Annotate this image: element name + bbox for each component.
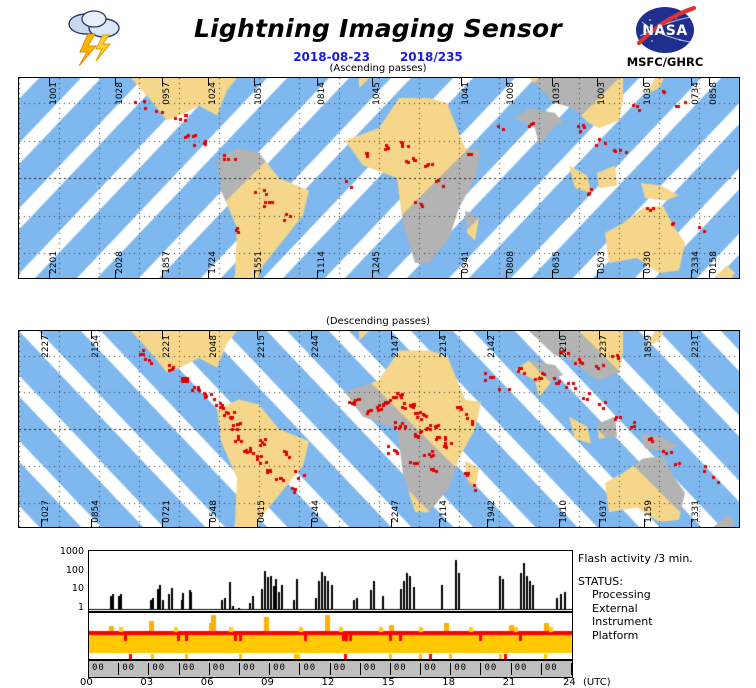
- orbit-time-label: 1028: [116, 82, 125, 105]
- orbit-cell[interactable]: 00: [89, 663, 119, 675]
- orbit-cell[interactable]: 00: [391, 663, 421, 675]
- orbit-cell[interactable]: 00: [331, 663, 361, 675]
- status-bars[interactable]: [88, 612, 573, 660]
- orbit-cell[interactable]: 00: [542, 663, 572, 675]
- orbit-time-label: 2210: [560, 335, 569, 358]
- svg-text:NASA: NASA: [642, 23, 687, 39]
- orbit-cell-label: 00: [334, 663, 347, 673]
- orbit-cell-label: 00: [454, 663, 467, 673]
- legend-flash-activity: Flash activity /3 min.: [578, 552, 756, 566]
- chart-legend: Flash activity /3 min. STATUS: Processin…: [578, 552, 756, 642]
- orbit-time-label: 0415: [258, 500, 267, 523]
- orbit-time-label: 1030: [644, 82, 653, 105]
- descending-map-canvas: [19, 331, 739, 527]
- orbit-time-label: 2154: [92, 335, 101, 358]
- orbit-cell-label: 00: [152, 663, 165, 673]
- orbit-time-label: 0854: [92, 500, 101, 523]
- orbit-time-label: 1001: [50, 82, 59, 105]
- orbit-cell-label: 00: [122, 663, 135, 673]
- legend-spacer: [578, 566, 756, 575]
- utc-suffix-label: (UTC): [583, 677, 611, 688]
- nasa-center-label: MSFC/GHRC: [620, 55, 710, 69]
- orbit-time-label: 1114: [318, 251, 327, 274]
- orbit-time-label: 1859: [645, 335, 654, 358]
- timeseries-panel: 1000100101 00000000000000000000000000000…: [0, 546, 756, 680]
- orbit-time-label: 2221: [163, 335, 172, 358]
- orbit-time-label: 2244: [312, 335, 321, 358]
- orbit-time-label: 2028: [116, 251, 125, 274]
- orbit-time-label: 2214: [440, 335, 449, 358]
- orbit-cell-label: 00: [213, 663, 226, 673]
- time-axis-tick-label: 03: [140, 677, 153, 688]
- orbit-time-label: 0734: [692, 82, 701, 105]
- orbit-time-label: 2114: [440, 500, 449, 523]
- ascending-passes-map[interactable]: 1001102809571024105108141045104110081035…: [18, 77, 740, 279]
- orbit-time-label: 0957: [163, 82, 172, 105]
- orbit-time-label: 1637: [600, 500, 609, 523]
- time-axis-tick-label: 24: [563, 677, 576, 688]
- orbit-time-label: 0941: [462, 251, 471, 274]
- orbit-strip[interactable]: 00000000000000000000000000000000: [88, 660, 573, 678]
- flash-activity-canvas: [89, 551, 572, 611]
- orbit-cell-label: 00: [92, 663, 105, 673]
- time-axis-tick-label: 09: [261, 677, 274, 688]
- time-axis-tick-label: 21: [503, 677, 516, 688]
- orbit-cell-label: 00: [545, 663, 558, 673]
- orbit-time-label: 1810: [560, 500, 569, 523]
- orbit-time-label: 0503: [598, 251, 607, 274]
- orbit-time-label: 2142: [488, 335, 497, 358]
- flash-y-tick-label: 10: [44, 583, 84, 594]
- date-iso: 2018-08-23: [293, 50, 370, 64]
- status-bars-canvas: [89, 613, 572, 659]
- orbit-time-label: 0158: [710, 251, 719, 274]
- orbit-time-label: 1724: [209, 251, 218, 274]
- orbit-time-label: 2334: [692, 251, 701, 274]
- orbit-time-label: 0244: [312, 500, 321, 523]
- orbit-time-label: 2215: [258, 335, 267, 358]
- orbit-cell-label: 00: [273, 663, 286, 673]
- time-axis-tick-label: 15: [382, 677, 395, 688]
- orbit-cell-label: 00: [183, 663, 196, 673]
- flash-y-tick-label: 1: [44, 602, 84, 613]
- orbit-cell[interactable]: 00: [512, 663, 542, 675]
- orbit-cell-label: 00: [394, 663, 407, 673]
- orbit-cell-label: 00: [424, 663, 437, 673]
- orbit-cell-label: 00: [515, 663, 528, 673]
- orbit-time-label: 1245: [373, 251, 382, 274]
- flash-y-tick-label: 100: [44, 565, 84, 576]
- orbit-time-label: 2227: [42, 335, 51, 358]
- orbit-time-label: 0721: [163, 500, 172, 523]
- orbit-time-label: 1051: [255, 82, 264, 105]
- orbit-time-label: 2247: [392, 500, 401, 523]
- legend-status-processing: Processing: [578, 588, 756, 602]
- orbit-cell[interactable]: 00: [481, 663, 511, 675]
- orbit-cell-label: 00: [243, 663, 256, 673]
- orbit-time-label: 1857: [163, 251, 172, 274]
- orbit-cell[interactable]: 00: [451, 663, 481, 675]
- orbit-time-label: 2231: [692, 335, 701, 358]
- time-axis-tick-label: 18: [442, 677, 455, 688]
- orbit-cell[interactable]: 00: [149, 663, 179, 675]
- orbit-time-label: 1942: [488, 500, 497, 523]
- orbit-time-label: 0814: [318, 82, 327, 105]
- descending-caption: (Descending passes): [0, 316, 756, 327]
- time-axis-tick-label: 12: [322, 677, 335, 688]
- orbit-time-label: 0858: [710, 82, 719, 105]
- descending-passes-map[interactable]: 2227215422212048221522442147221421422210…: [18, 330, 740, 528]
- orbit-time-label: 1008: [507, 82, 516, 105]
- orbit-time-label: 1027: [42, 500, 51, 523]
- orbit-time-label: 1331: [692, 500, 701, 523]
- orbit-time-label: 1003: [598, 82, 607, 105]
- orbit-cell[interactable]: 00: [119, 663, 149, 675]
- legend-status-header: STATUS:: [578, 575, 756, 589]
- orbit-time-label: 1045: [373, 82, 382, 105]
- orbit-time-label: 0635: [553, 251, 562, 274]
- orbit-time-label: 1041: [462, 82, 471, 105]
- orbit-time-label: 1035: [553, 82, 562, 105]
- orbit-cell[interactable]: 00: [210, 663, 240, 675]
- orbit-cell[interactable]: 00: [361, 663, 391, 675]
- orbit-time-label: 0548: [210, 500, 219, 523]
- orbit-time-label: 0330: [644, 251, 653, 274]
- orbit-cell[interactable]: 00: [300, 663, 330, 675]
- orbit-cell-label: 00: [303, 663, 316, 673]
- flash-y-tick-label: 1000: [44, 546, 84, 557]
- orbit-time-label: 0808: [507, 251, 516, 274]
- orbit-time-label: 1159: [645, 500, 654, 523]
- orbit-time-label: 2147: [392, 335, 401, 358]
- legend-status-external: External: [578, 602, 756, 616]
- orbit-time-label: 2237: [600, 335, 609, 358]
- legend-status-instrument: Instrument: [578, 615, 756, 629]
- ascending-map-canvas: [19, 78, 739, 278]
- orbit-time-label: 2201: [50, 251, 59, 274]
- legend-status-platform: Platform: [578, 629, 756, 643]
- orbit-cell-label: 00: [484, 663, 497, 673]
- orbit-cell[interactable]: 00: [180, 663, 210, 675]
- date-doy: 2018/235: [400, 50, 463, 64]
- orbit-time-label: 2048: [210, 335, 219, 358]
- time-axis-tick-label: 06: [201, 677, 214, 688]
- orbit-cell[interactable]: 00: [240, 663, 270, 675]
- flash-activity-chart[interactable]: [88, 550, 573, 612]
- orbit-time-label: 1551: [255, 251, 264, 274]
- orbit-time-label: 1024: [209, 82, 218, 105]
- time-axis-tick-label: 00: [80, 677, 93, 688]
- orbit-cell-label: 00: [364, 663, 377, 673]
- nasa-meatball-logo: NASA MSFC/GHRC: [620, 6, 710, 70]
- page-header: Lightning Imaging Sensor 2018-08-232018/…: [0, 0, 756, 72]
- orbit-cell[interactable]: 00: [270, 663, 300, 675]
- orbit-cell[interactable]: 00: [421, 663, 451, 675]
